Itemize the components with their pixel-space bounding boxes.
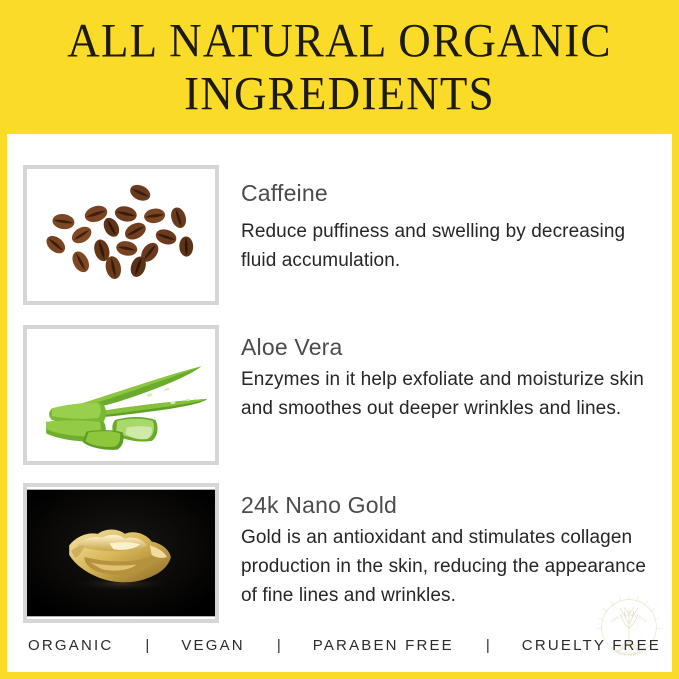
ingredient-description: Gold is an antioxidant and stimulates co… bbox=[241, 523, 661, 610]
ingredient-description: Enzymes in it help exfoliate and moistur… bbox=[241, 365, 661, 423]
ingredient-text: Caffeine Reduce puffiness and swelling b… bbox=[219, 165, 672, 275]
aloe-vera-leaves-photo bbox=[27, 329, 215, 461]
gold-nugget-photo bbox=[27, 487, 215, 619]
claim-vegan: VEGAN bbox=[175, 637, 251, 654]
ingredient-name: Aloe Vera bbox=[241, 333, 672, 362]
page-title: ALL NATURAL ORGANIC INGREDIENTS bbox=[0, 14, 679, 120]
claims-footer: ORGANIC | VEGAN | PARABEN FREE | CRUELTY… bbox=[7, 619, 672, 672]
ingredient-text: 24k Nano Gold Gold is an antioxidant and… bbox=[219, 483, 672, 610]
list-item: 24k Nano Gold Gold is an antioxidant and… bbox=[7, 483, 672, 623]
claim-separator: | bbox=[460, 637, 516, 654]
list-item: Aloe Vera Enzymes in it help exfoliate a… bbox=[7, 325, 672, 465]
ingredient-image-frame bbox=[23, 325, 219, 465]
header-banner: ALL NATURAL ORGANIC INGREDIENTS bbox=[0, 0, 679, 134]
claim-paraben-free: PARABEN FREE bbox=[307, 637, 460, 654]
ingredient-image-frame bbox=[23, 483, 219, 623]
claim-organic: ORGANIC bbox=[22, 637, 119, 654]
claim-separator: | bbox=[251, 637, 307, 654]
ingredient-name: Caffeine bbox=[241, 179, 672, 208]
ingredient-image-frame bbox=[23, 165, 219, 305]
coffee-beans-photo bbox=[27, 169, 215, 301]
claim-cruelty-free: CRUELTY FREE bbox=[516, 637, 667, 654]
ingredient-list: Caffeine Reduce puffiness and swelling b… bbox=[7, 134, 672, 623]
ingredient-text: Aloe Vera Enzymes in it help exfoliate a… bbox=[219, 325, 672, 423]
ingredients-poster: ALL NATURAL ORGANIC INGREDIENTS bbox=[0, 0, 679, 679]
ingredient-description: Reduce puffiness and swelling by decreas… bbox=[241, 217, 661, 275]
ingredient-name: 24k Nano Gold bbox=[241, 491, 672, 520]
claims-row: ORGANIC | VEGAN | PARABEN FREE | CRUELTY… bbox=[12, 637, 667, 654]
claim-separator: | bbox=[119, 637, 175, 654]
list-item: Caffeine Reduce puffiness and swelling b… bbox=[7, 165, 672, 305]
